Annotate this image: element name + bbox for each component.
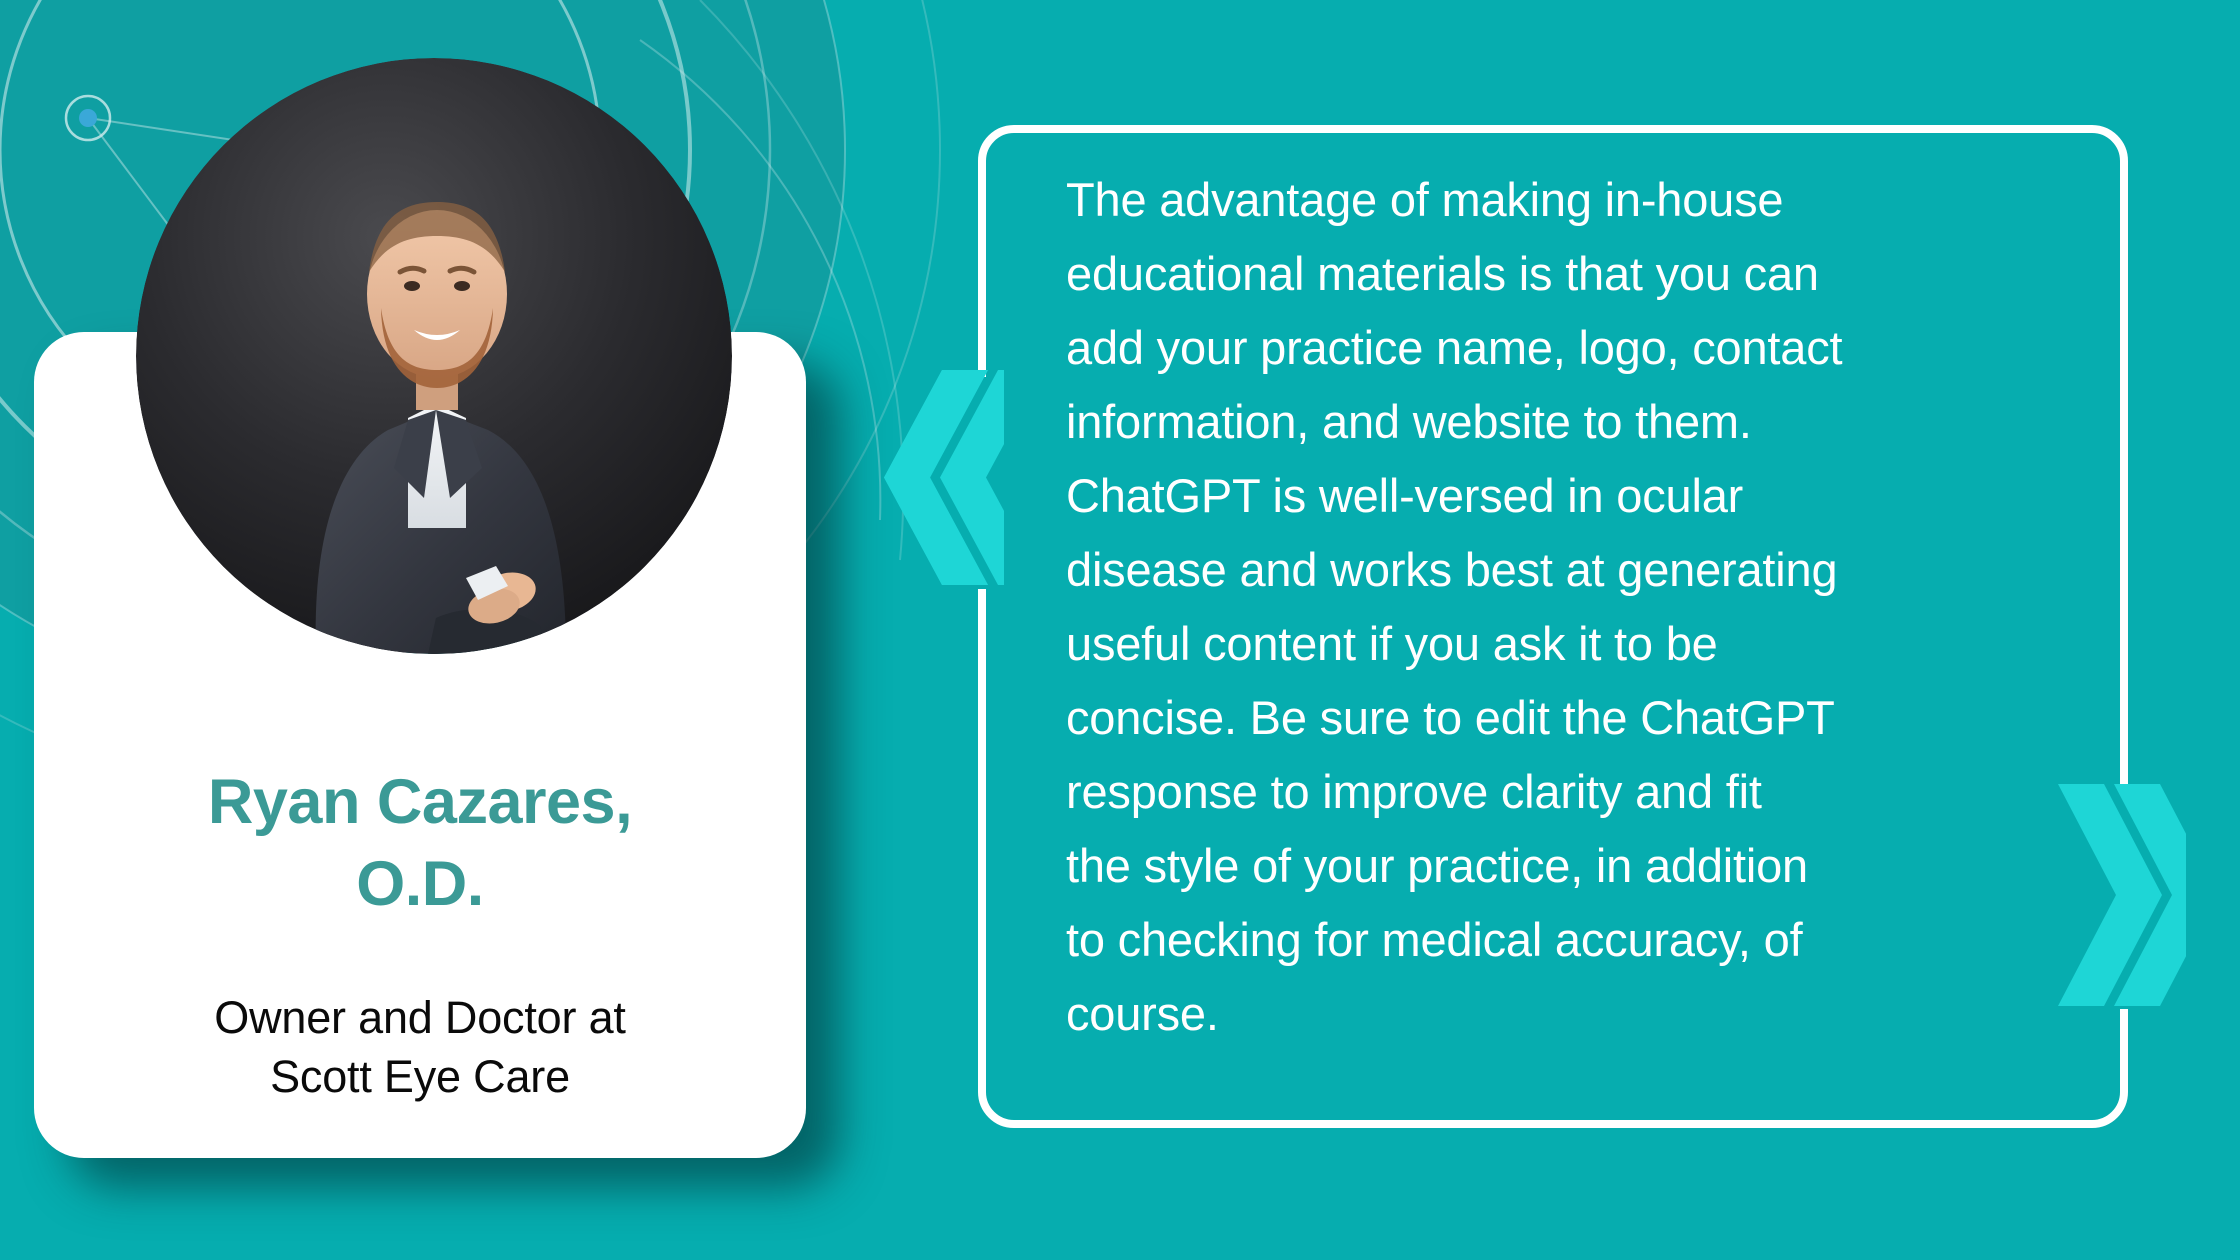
person-name-line-2: O.D.: [356, 849, 484, 919]
ring-marker-center-dot-icon: [79, 109, 97, 127]
quote-line: ChatGPT is well-versed in ocular: [1066, 459, 2076, 533]
quote-panel: The advantage of making in-house educati…: [978, 125, 2128, 1128]
quote-line: useful content if you ask it to be: [1066, 607, 2076, 681]
person-role-line-2: Scott Eye Care: [270, 1051, 570, 1102]
quote-line: educational materials is that you can: [1066, 237, 2076, 311]
person-role: Owner and Doctor at Scott Eye Care: [84, 988, 756, 1107]
quote-line: disease and works best at generating: [1066, 533, 2076, 607]
profile-card-text: Ryan Cazares, O.D. Owner and Doctor at S…: [34, 762, 806, 1107]
quote-line: course.: [1066, 977, 2076, 1051]
quote-line: to checking for medical accuracy, of: [1066, 903, 2076, 977]
portrait-photo: [136, 58, 732, 654]
quote-line: the style of your practice, in addition: [1066, 829, 2076, 903]
quote-line: response to improve clarity and fit: [1066, 755, 2076, 829]
person-name-line-1: Ryan Cazares,: [208, 767, 632, 837]
quote-text: The advantage of making in-house educati…: [1066, 163, 2076, 1051]
avatar: [136, 58, 732, 654]
testimonial-card: Ryan Cazares, O.D. Owner and Doctor at S…: [0, 0, 2240, 1260]
person-name: Ryan Cazares, O.D.: [84, 762, 756, 926]
double-chevron-left-icon: [884, 370, 1004, 585]
quote-line: concise. Be sure to edit the ChatGPT: [1066, 681, 2076, 755]
quote-line: The advantage of making in-house: [1066, 163, 2076, 237]
quote-line: information, and website to them.: [1066, 385, 2076, 459]
ring-marker-dot-icon: [66, 96, 110, 140]
person-role-line-1: Owner and Doctor at: [214, 992, 625, 1043]
double-chevron-right-icon: [2058, 784, 2186, 1006]
quote-line: add your practice name, logo, contact: [1066, 311, 2076, 385]
